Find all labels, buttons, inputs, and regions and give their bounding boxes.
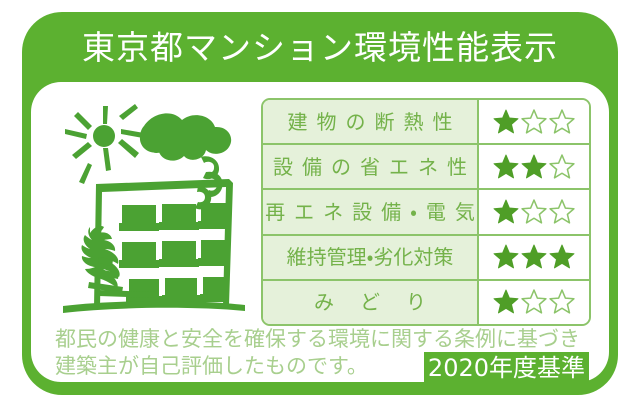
sun-icon <box>65 104 144 184</box>
star-filled-icon <box>549 244 575 270</box>
rating-label-maintenance-durability: 維持管理・劣化対策 <box>263 236 479 279</box>
placard-title-bar: 東京都マンション環境性能表示 <box>22 12 618 82</box>
building-illustration <box>41 90 259 322</box>
star-filled-icon <box>493 154 519 180</box>
star-filled-icon <box>493 289 519 315</box>
table-row: 再エネ設備・電気 <box>263 190 589 235</box>
star-filled-icon <box>493 199 519 225</box>
rating-stars-greenery <box>479 281 589 324</box>
cloud-icon <box>140 113 231 209</box>
environmental-performance-placard: 東京都マンション環境性能表示 <box>22 12 618 395</box>
rating-stars-insulation <box>479 100 589 143</box>
star-empty-icon <box>521 289 547 315</box>
page-title: 東京都マンション環境性能表示 <box>82 31 558 64</box>
star-filled-icon <box>493 109 519 135</box>
rating-stars-equipment-energy-saving <box>479 145 589 188</box>
star-empty-icon <box>521 109 547 135</box>
rating-stars-renewable-energy <box>479 190 589 233</box>
star-empty-icon <box>549 199 575 225</box>
table-row: みどり <box>263 281 589 324</box>
pine-tree-icon <box>81 226 123 293</box>
table-row: 建物の断熱性 <box>263 100 589 145</box>
rating-label-greenery: みどり <box>263 281 479 324</box>
table-row: 維持管理・劣化対策 <box>263 236 589 281</box>
star-empty-icon <box>549 109 575 135</box>
rating-label-equipment-energy-saving: 設備の省エネ性 <box>263 145 479 188</box>
placard-body-panel: 建物の断熱性 設備の省エネ性 再エネ設備・電気 維持管理・劣化対策 みどり <box>31 82 609 382</box>
table-row: 設備の省エネ性 <box>263 145 589 190</box>
rating-stars-maintenance-durability <box>479 236 589 279</box>
rating-label-insulation: 建物の断熱性 <box>263 100 479 143</box>
footer-line-1: 都民の健康と安全を確保する環境に関する条例に基づき <box>55 326 589 353</box>
standard-year-badge: 2020年度基準 <box>424 352 589 385</box>
star-empty-icon <box>521 199 547 225</box>
rating-label-renewable-energy: 再エネ設備・電気 <box>263 190 479 233</box>
star-empty-icon <box>549 289 575 315</box>
star-filled-icon <box>521 154 547 180</box>
star-filled-icon <box>493 244 519 270</box>
footer-note: 都民の健康と安全を確保する環境に関する条例に基づき 建築主が自己評価したものです… <box>55 326 589 382</box>
star-filled-icon <box>521 244 547 270</box>
rating-table: 建物の断熱性 設備の省エネ性 再エネ設備・電気 維持管理・劣化対策 みどり <box>261 98 591 326</box>
star-empty-icon <box>549 154 575 180</box>
